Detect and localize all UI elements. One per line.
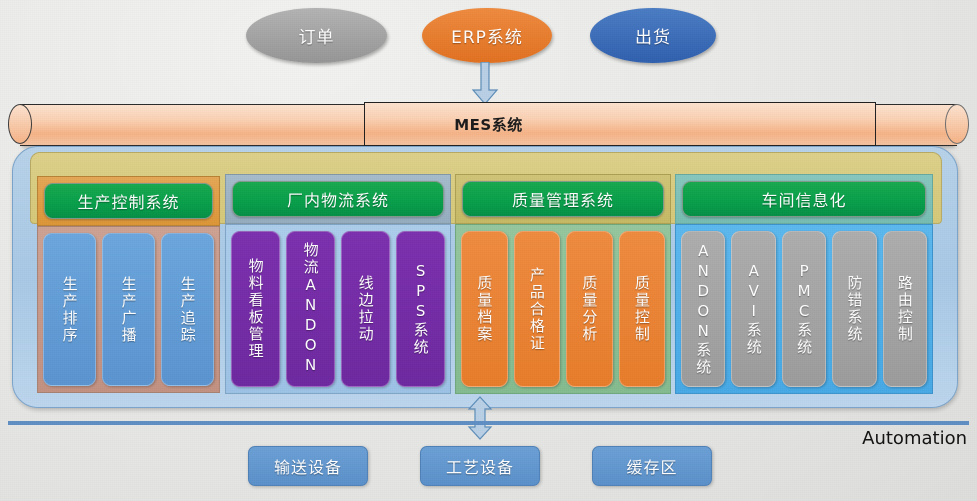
group-3-title: 质量管理系统 [462,181,664,217]
card-label: 线边拉动 [357,275,373,343]
mes-banner[interactable]: MES系统 [8,104,969,144]
card-andon-system[interactable]: ANDON系统 [681,231,725,387]
card-routing-control[interactable]: 路由控制 [883,231,927,387]
card-quality-control[interactable]: 质量控制 [619,231,666,387]
node-order-label: 订单 [299,23,335,48]
group-3-title-label: 质量管理系统 [512,187,614,211]
group-2-title: 厂内物流系统 [232,181,444,217]
card-label: ANDON系统 [695,242,711,376]
arrow-mes-to-automation-icon [466,396,494,440]
card-quality-analysis[interactable]: 质量分析 [566,231,613,387]
group-1-cards: 生产排序 生产广播 生产追踪 [43,233,214,386]
group-4-title: 车间信息化 [682,181,926,217]
card-label: 防错系统 [846,275,862,343]
mes-label: MES系统 [8,104,969,144]
card-quality-records[interactable]: 质量档案 [461,231,508,387]
card-production-broadcast[interactable]: 生产广播 [102,233,155,386]
card-production-tracking[interactable]: 生产追踪 [161,233,214,386]
automation-box-label: 工艺设备 [446,454,514,478]
automation-box-buffer-zone[interactable]: 缓存区 [592,446,712,486]
group-internal-logistics[interactable]: 厂内物流系统 物料看板管理 物流ANDON 线边拉动 SPS系统 [225,174,451,394]
automation-box-label: 输送设备 [274,454,342,478]
card-error-proofing-system[interactable]: 防错系统 [832,231,876,387]
card-label: 质量档案 [476,275,492,343]
automation-box-process-equipment[interactable]: 工艺设备 [420,446,540,486]
node-erp-label: ERP系统 [451,23,523,48]
group-quality-management[interactable]: 质量管理系统 质量档案 产品合格证 质量分析 质量控制 [455,174,671,394]
group-1-title-label: 生产控制系统 [77,189,179,213]
card-production-sequencing[interactable]: 生产排序 [43,233,96,386]
automation-label: Automation [862,428,967,449]
group-production-control[interactable]: 生产控制系统 生产排序 生产广播 生产追踪 [37,176,220,393]
group-4-cards: ANDON系统 AVI系统 PMC系统 防错系统 路由控制 [681,231,927,387]
group-2-title-label: 厂内物流系统 [287,187,389,211]
automation-divider [8,421,969,425]
card-label: 物料看板管理 [247,258,263,360]
card-label: 质量分析 [581,275,597,343]
card-logistics-andon[interactable]: 物流ANDON [286,231,335,387]
card-label: 路由控制 [897,275,913,343]
card-sps-system[interactable]: SPS系统 [396,231,445,387]
card-avi-system[interactable]: AVI系统 [731,231,775,387]
card-label: 生产追踪 [179,276,195,344]
automation-box-conveying-equipment[interactable]: 输送设备 [248,446,368,486]
card-line-side-pull[interactable]: 线边拉动 [341,231,390,387]
slide-canvas: 订单 ERP系统 出货 MES系统 生产控制系统 生产排序 生产广播 [0,0,977,501]
card-label: PMC系统 [796,262,812,356]
node-order[interactable]: 订单 [246,8,387,63]
group-1-title: 生产控制系统 [44,183,213,219]
card-product-certificate[interactable]: 产品合格证 [514,231,561,387]
card-material-kanban-management[interactable]: 物料看板管理 [231,231,280,387]
card-label: AVI系统 [746,262,762,356]
node-shipping-label: 出货 [635,23,671,48]
node-shipping[interactable]: 出货 [590,8,716,63]
card-pmc-system[interactable]: PMC系统 [782,231,826,387]
arrow-erp-to-mes-icon [470,62,500,106]
node-erp[interactable]: ERP系统 [422,8,552,63]
card-label: 产品合格证 [529,267,545,352]
card-label: 生产排序 [61,276,77,344]
group-2-cards: 物料看板管理 物流ANDON 线边拉动 SPS系统 [231,231,445,387]
group-workshop-informatization[interactable]: 车间信息化 ANDON系统 AVI系统 PMC系统 防错系统 路由控制 [675,174,933,394]
group-3-cards: 质量档案 产品合格证 质量分析 质量控制 [461,231,665,387]
group-4-title-label: 车间信息化 [761,187,846,211]
automation-box-label: 缓存区 [626,454,677,478]
card-label: 物流ANDON [302,242,318,376]
card-label: SPS系统 [412,262,428,356]
card-label: 生产广播 [120,276,136,344]
card-label: 质量控制 [634,275,650,343]
